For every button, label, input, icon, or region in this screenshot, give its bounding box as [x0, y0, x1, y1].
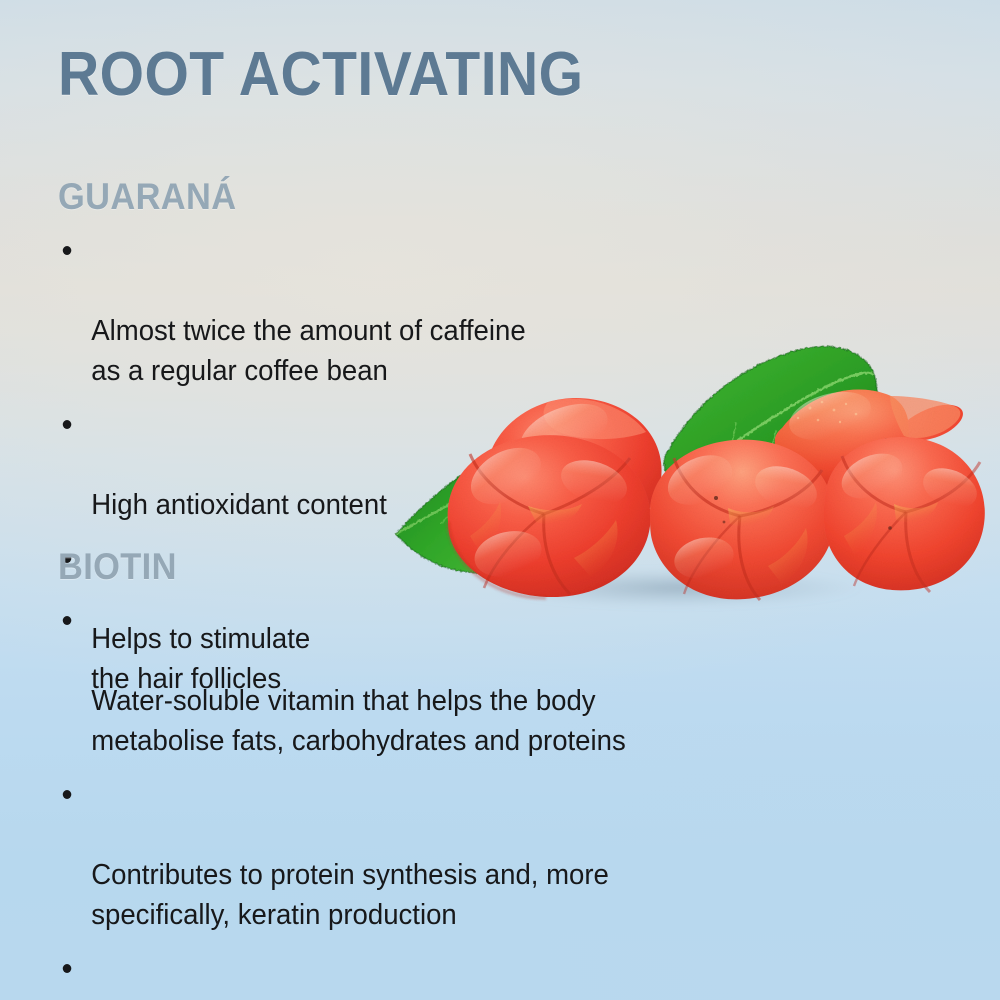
- list-item: Almost twice the amount of caffeine as a…: [58, 231, 526, 391]
- list-item: Water-soluble vitamin that helps the bod…: [58, 601, 626, 761]
- bullet-dot-icon: [63, 616, 72, 625]
- section-heading-guarana: GUARANÁ: [58, 178, 516, 215]
- bullet-dot-icon: [63, 964, 72, 973]
- list-item-text: High antioxidant content: [91, 489, 387, 521]
- page-title: ROOT ACTIVATING: [58, 44, 584, 106]
- list-item-text: Water-soluble vitamin that helps the bod…: [91, 685, 625, 757]
- section-biotin: BIOTIN Water-soluble vitamin that helps …: [58, 548, 656, 1000]
- bullet-dot-icon: [63, 420, 72, 429]
- list-item: Helps to increase hair strength and vita…: [58, 949, 626, 1000]
- bullet-dot-icon: [63, 790, 72, 799]
- list-item: Contributes to protein synthesis and, mo…: [58, 775, 626, 935]
- section-heading-biotin: BIOTIN: [58, 548, 614, 585]
- bullet-list-biotin: Water-soluble vitamin that helps the bod…: [58, 601, 656, 1000]
- list-item-text: Almost twice the amount of caffeine as a…: [91, 315, 525, 387]
- list-item: High antioxidant content: [58, 405, 526, 525]
- list-item-text: Contributes to protein synthesis and, mo…: [91, 859, 609, 931]
- infographic-panel: ROOT ACTIVATING GUARANÁ Almost twice the…: [0, 0, 1000, 1000]
- bullet-dot-icon: [63, 246, 72, 255]
